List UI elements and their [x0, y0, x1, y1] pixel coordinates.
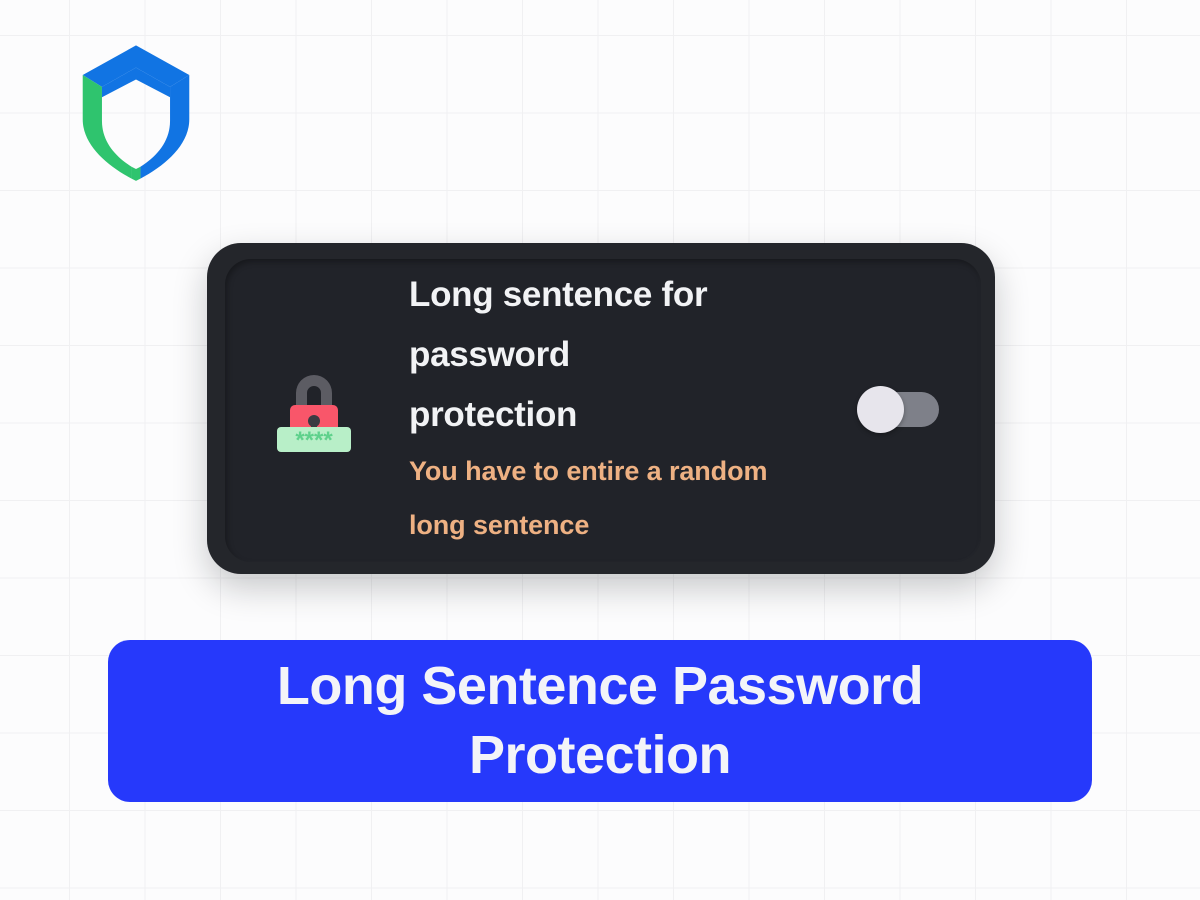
- toggle-knob[interactable]: [857, 386, 904, 433]
- title-banner: Long Sentence Password Protection: [108, 640, 1092, 802]
- password-protection-toggle[interactable]: [857, 386, 939, 432]
- password-lock-icon: ****: [259, 354, 369, 464]
- card-title: Long sentence for password protection: [409, 265, 709, 446]
- card-subtitle: You have to entire a random long sentenc…: [409, 445, 829, 552]
- lock-asterisks: ****: [295, 427, 333, 454]
- page-canvas: **** Long sentence for password protecti…: [0, 0, 1200, 900]
- feature-card: **** Long sentence for password protecti…: [207, 243, 995, 574]
- brand-shield-logo: [62, 38, 210, 186]
- card-content: **** Long sentence for password protecti…: [207, 243, 995, 574]
- banner-title: Long Sentence Password Protection: [148, 652, 1052, 790]
- card-text-block: Long sentence for password protection Yo…: [387, 265, 847, 552]
